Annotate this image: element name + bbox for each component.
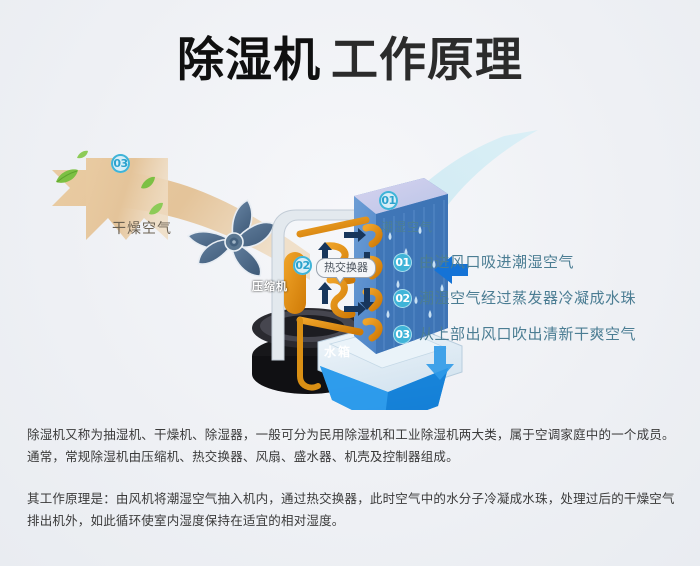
title-part-2: 工作原理: [331, 33, 523, 88]
legend-badge-01: 01: [393, 253, 412, 272]
legend-item: 03 从上部出风口吹出清新干爽空气: [393, 324, 683, 360]
body-copy: 除湿机又称为抽湿机、干燥机、除湿器，一般可分为民用除湿机和工业除湿机两大类，属于…: [27, 424, 677, 552]
leaf-icon: [140, 176, 156, 190]
label-dry-air: 干燥空气: [112, 218, 172, 238]
leaf-icon: [54, 168, 80, 186]
page-title: 除湿机工作原理: [0, 32, 700, 90]
leaf-icon: [76, 150, 89, 160]
paragraph-1: 除湿机又称为抽湿机、干燥机、除湿器，一般可分为民用除湿机和工业除湿机两大类，属于…: [27, 424, 677, 468]
legend-item: 01 由进风口吸进潮湿空气: [393, 252, 683, 288]
legend-badge-03: 03: [393, 325, 412, 344]
legend-text-03: 从上部出风口吹出清新干爽空气: [419, 324, 636, 344]
label-compressor: 压缩机: [252, 278, 288, 294]
diagram-badge-01: 01: [379, 191, 398, 210]
paragraph-2: 其工作原理是：由风机将潮湿空气抽入机内，通过热交换器，此时空气中的水分子冷凝成水…: [27, 488, 677, 532]
heat-exchanger-callout: 热交换器: [316, 258, 376, 278]
legend-text-01: 由进风口吸进潮湿空气: [419, 252, 574, 272]
label-water-tank: 水箱: [324, 343, 352, 360]
infographic-page: 除湿机工作原理: [0, 0, 700, 566]
legend-list: 01 由进风口吸进潮湿空气 02 潮湿空气经过蒸发器冷凝成水珠 03 从上部出风…: [393, 252, 683, 360]
legend-item: 02 潮湿空气经过蒸发器冷凝成水珠: [393, 288, 683, 324]
legend-text-02: 潮湿空气经过蒸发器冷凝成水珠: [419, 288, 636, 308]
legend-badge-02: 02: [393, 289, 412, 308]
diagram-badge-02: 02: [293, 256, 312, 275]
title-part-1: 除湿机: [177, 33, 321, 88]
leaf-icon: [148, 202, 164, 216]
label-humid-air: 潮湿空气: [381, 218, 433, 235]
diagram-badge-03: 03: [111, 154, 130, 173]
